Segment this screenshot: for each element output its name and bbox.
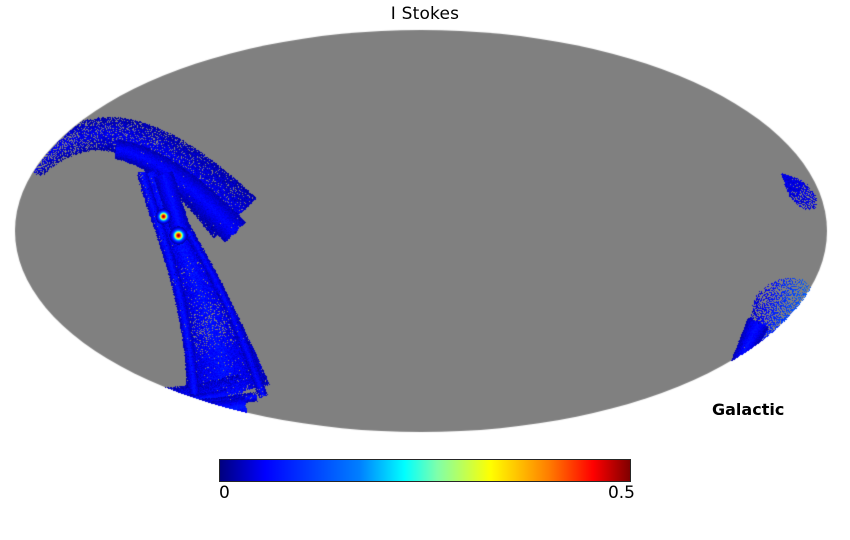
mollweide-projection bbox=[0, 22, 850, 442]
coordinate-system-label: Galactic bbox=[712, 400, 784, 419]
colorbar-max-label: 0.5 bbox=[608, 483, 635, 503]
sky-map-figure: I Stokes Galactic 0 0.5 bbox=[0, 0, 850, 540]
page-title: I Stokes bbox=[0, 4, 850, 24]
sky-map-canvas[interactable] bbox=[0, 22, 850, 442]
colorbar-tick-labels: 0 0.5 bbox=[219, 483, 631, 507]
colorbar-min-label: 0 bbox=[219, 483, 230, 503]
colorbar-gradient[interactable] bbox=[219, 459, 631, 482]
colorbar: 0 0.5 bbox=[219, 459, 631, 507]
